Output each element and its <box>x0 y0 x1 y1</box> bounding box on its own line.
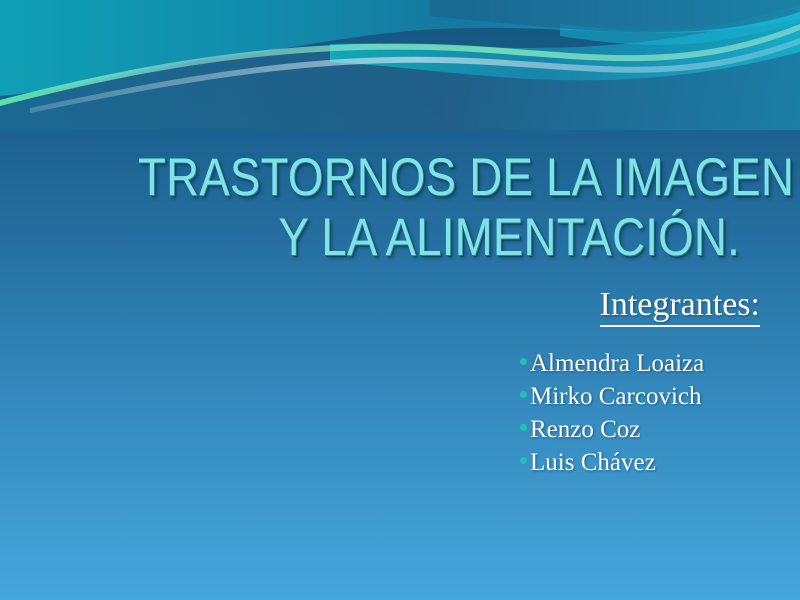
author-name: Mirko Carcovich <box>530 383 701 411</box>
wave-shape-cyan-ribbon-thin <box>560 4 800 45</box>
list-item: Mirko Carcovich <box>520 383 790 416</box>
title-line-2: Y LA ALIMENTACIÓN. <box>138 208 740 268</box>
wave-shape-navy-wedge <box>430 0 800 32</box>
list-item: Renzo Coz <box>520 416 790 449</box>
wave-accent-light-line <box>30 38 800 113</box>
wave-shape-teal-field <box>0 0 800 96</box>
subtitle: Integrantes: <box>430 286 760 327</box>
bullet-icon <box>520 391 527 398</box>
wave-shape-navy-ribbon <box>0 28 800 130</box>
subtitle-text: Integrantes: <box>600 286 761 327</box>
wave-shape-cyan-ribbon <box>330 10 800 80</box>
authors-list: Almendra Loaiza Mirko Carcovich Renzo Co… <box>520 350 790 482</box>
author-name: Almendra Loaiza <box>530 350 704 378</box>
title-line-1: TRASTORNOS DE LA IMAGEN <box>138 148 740 208</box>
author-name: Luis Chávez <box>530 449 656 477</box>
bullet-icon <box>520 424 527 431</box>
bullet-icon <box>520 457 527 464</box>
decorative-wave-band <box>0 0 800 130</box>
author-name: Renzo Coz <box>530 416 640 444</box>
list-item: Luis Chávez <box>520 449 790 482</box>
bullet-icon <box>520 358 527 365</box>
wave-accent-green-line <box>0 24 800 106</box>
list-item: Almendra Loaiza <box>520 350 790 383</box>
presentation-slide: TRASTORNOS DE LA IMAGEN Y LA ALIMENTACIÓ… <box>0 0 800 600</box>
page-title: TRASTORNOS DE LA IMAGEN Y LA ALIMENTACIÓ… <box>40 148 740 268</box>
